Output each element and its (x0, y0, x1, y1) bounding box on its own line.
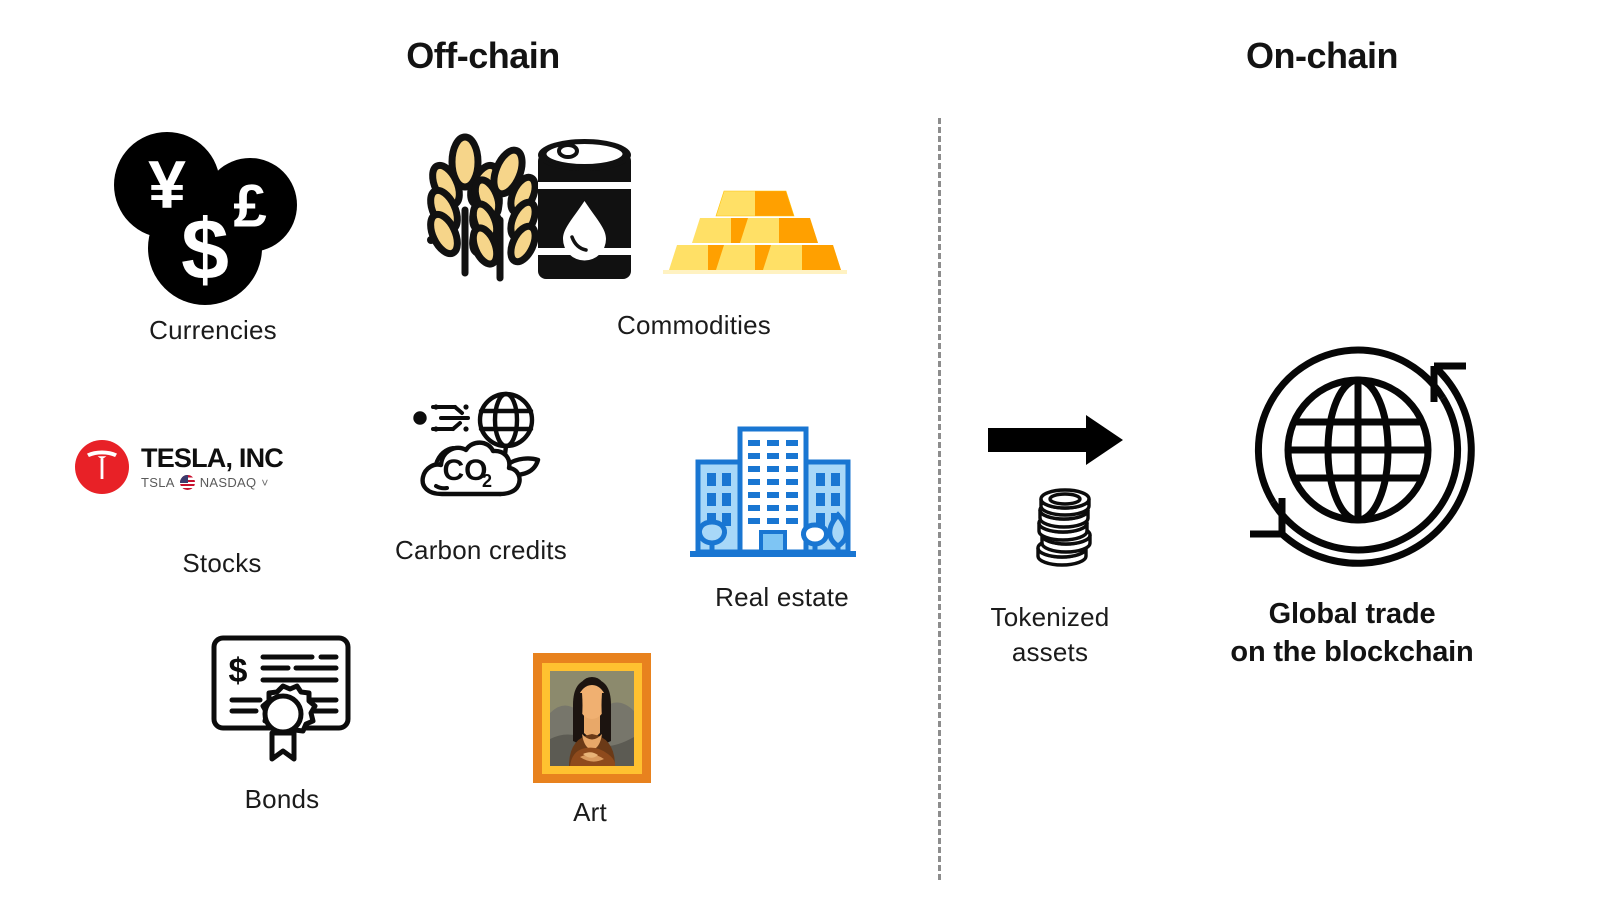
label-commodities: Commodities (617, 310, 771, 341)
oil-barrel-icon (532, 135, 637, 287)
label-stocks: Stocks (182, 548, 261, 579)
framed-painting-icon (533, 653, 651, 783)
svg-text:£: £ (233, 173, 266, 240)
us-flag-icon (180, 475, 195, 490)
certificate-icon: $ (208, 630, 358, 765)
svg-text:$: $ (229, 652, 248, 690)
buildings-icon (688, 415, 858, 565)
carbon-credits-icon: CO 2 (408, 390, 553, 515)
onchain-headline: Global trade on the blockchain (1230, 595, 1473, 672)
gold-bars-icon (655, 185, 855, 277)
coins-icon: ¥ £ $ (105, 130, 305, 305)
wheat-icon (418, 128, 543, 288)
svg-text:$: $ (181, 202, 229, 298)
global-trade-globe-icon (1238, 330, 1478, 570)
section-title-onchain: On-chain (1246, 35, 1398, 77)
svg-text:2: 2 (482, 471, 492, 491)
diagram-canvas: Off-chain On-chain ¥ £ $ Currencies (0, 0, 1600, 900)
label-tokenized-assets: Tokenized assets (991, 600, 1110, 670)
right-arrow-icon (988, 415, 1123, 465)
tesla-exchange: NASDAQ (200, 475, 257, 490)
tesla-ticker: TSLA (141, 475, 175, 490)
label-carbon-credits: Carbon credits (395, 535, 567, 566)
label-art: Art (573, 797, 607, 828)
tesla-t-mark (75, 440, 129, 494)
chevron-down-icon[interactable]: ˅ (261, 476, 268, 490)
coin-stack-icon (1022, 486, 1114, 574)
tesla-company-name: TESLA, INC (141, 444, 283, 472)
tesla-ticker-row: TSLA NASDAQ ˅ (141, 475, 283, 490)
label-real-estate: Real estate (715, 582, 849, 613)
section-divider (938, 118, 941, 880)
section-title-offchain: Off-chain (406, 35, 560, 77)
label-currencies: Currencies (149, 315, 277, 346)
svg-text:CO: CO (443, 454, 488, 487)
tesla-logo-icon: TESLA, INC TSLA NASDAQ ˅ (75, 432, 335, 502)
label-bonds: Bonds (245, 784, 320, 815)
